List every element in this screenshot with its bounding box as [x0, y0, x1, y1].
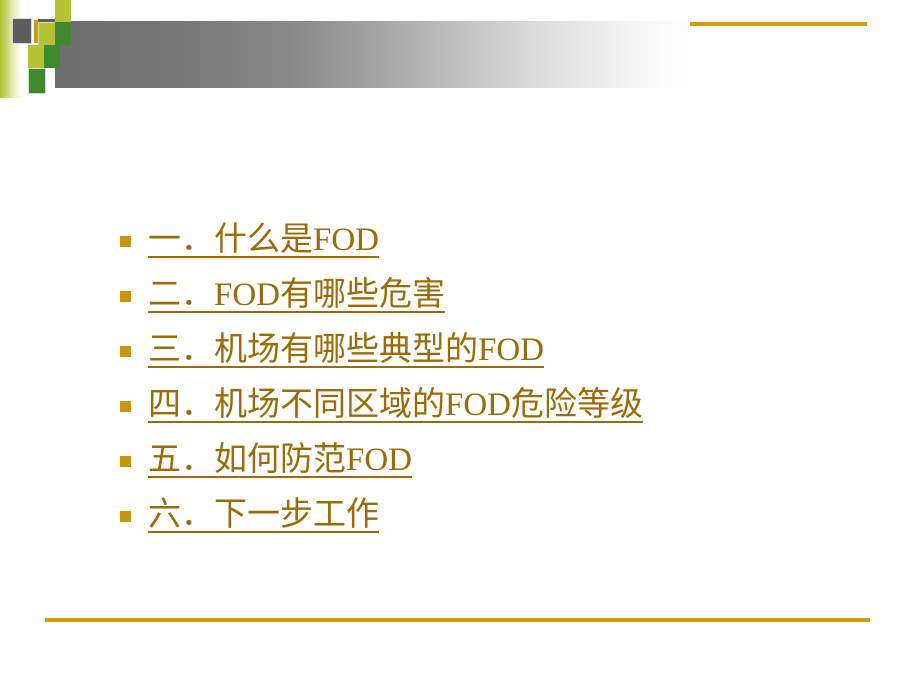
agenda-item-label[interactable]: 六．下一步工作 [148, 495, 379, 535]
bullet-square-icon [120, 401, 131, 412]
list-item[interactable]: 四．机场不同区域的FOD危险等级 [120, 377, 880, 432]
decor-square-gray-small [12, 18, 32, 44]
list-item[interactable]: 六．下一步工作 [120, 487, 880, 542]
decor-square-darkgreen-bottom [28, 68, 46, 94]
header-rule-right [690, 22, 867, 26]
gray-gradient-banner [55, 21, 691, 88]
agenda-item-label[interactable]: 三．机场有哪些典型的FOD [148, 330, 544, 370]
decor-square-yellowgreen-top [55, 0, 71, 22]
decor-square-darkgreen-mid [55, 22, 71, 45]
bullet-square-icon [120, 511, 131, 522]
footer-rule [45, 618, 870, 622]
decor-square-darkgreen-low [44, 45, 60, 68]
agenda-list: 一．什么是FOD 二．FOD有哪些危害 三．机场有哪些典型的FOD 四．机场不同… [120, 212, 880, 542]
bullet-square-icon [120, 456, 131, 467]
agenda-item-label[interactable]: 五．如何防范FOD [148, 440, 412, 480]
presentation-slide: 一．什么是FOD 二．FOD有哪些危害 三．机场有哪些典型的FOD 四．机场不同… [0, 0, 920, 690]
agenda-item-label[interactable]: 二．FOD有哪些危害 [148, 275, 445, 315]
left-gradient-strip [0, 0, 22, 98]
agenda-item-label[interactable]: 四．机场不同区域的FOD危险等级 [148, 385, 643, 425]
list-item[interactable]: 一．什么是FOD [120, 212, 880, 267]
list-item[interactable]: 三．机场有哪些典型的FOD [120, 322, 880, 377]
agenda-item-label[interactable]: 一．什么是FOD [148, 220, 379, 260]
bullet-square-icon [120, 236, 131, 247]
list-item[interactable]: 二．FOD有哪些危害 [120, 267, 880, 322]
bullet-square-icon [120, 346, 131, 357]
bullet-square-icon [120, 291, 131, 302]
list-item[interactable]: 五．如何防范FOD [120, 432, 880, 487]
decor-square-yellowgreen-low [28, 45, 44, 68]
